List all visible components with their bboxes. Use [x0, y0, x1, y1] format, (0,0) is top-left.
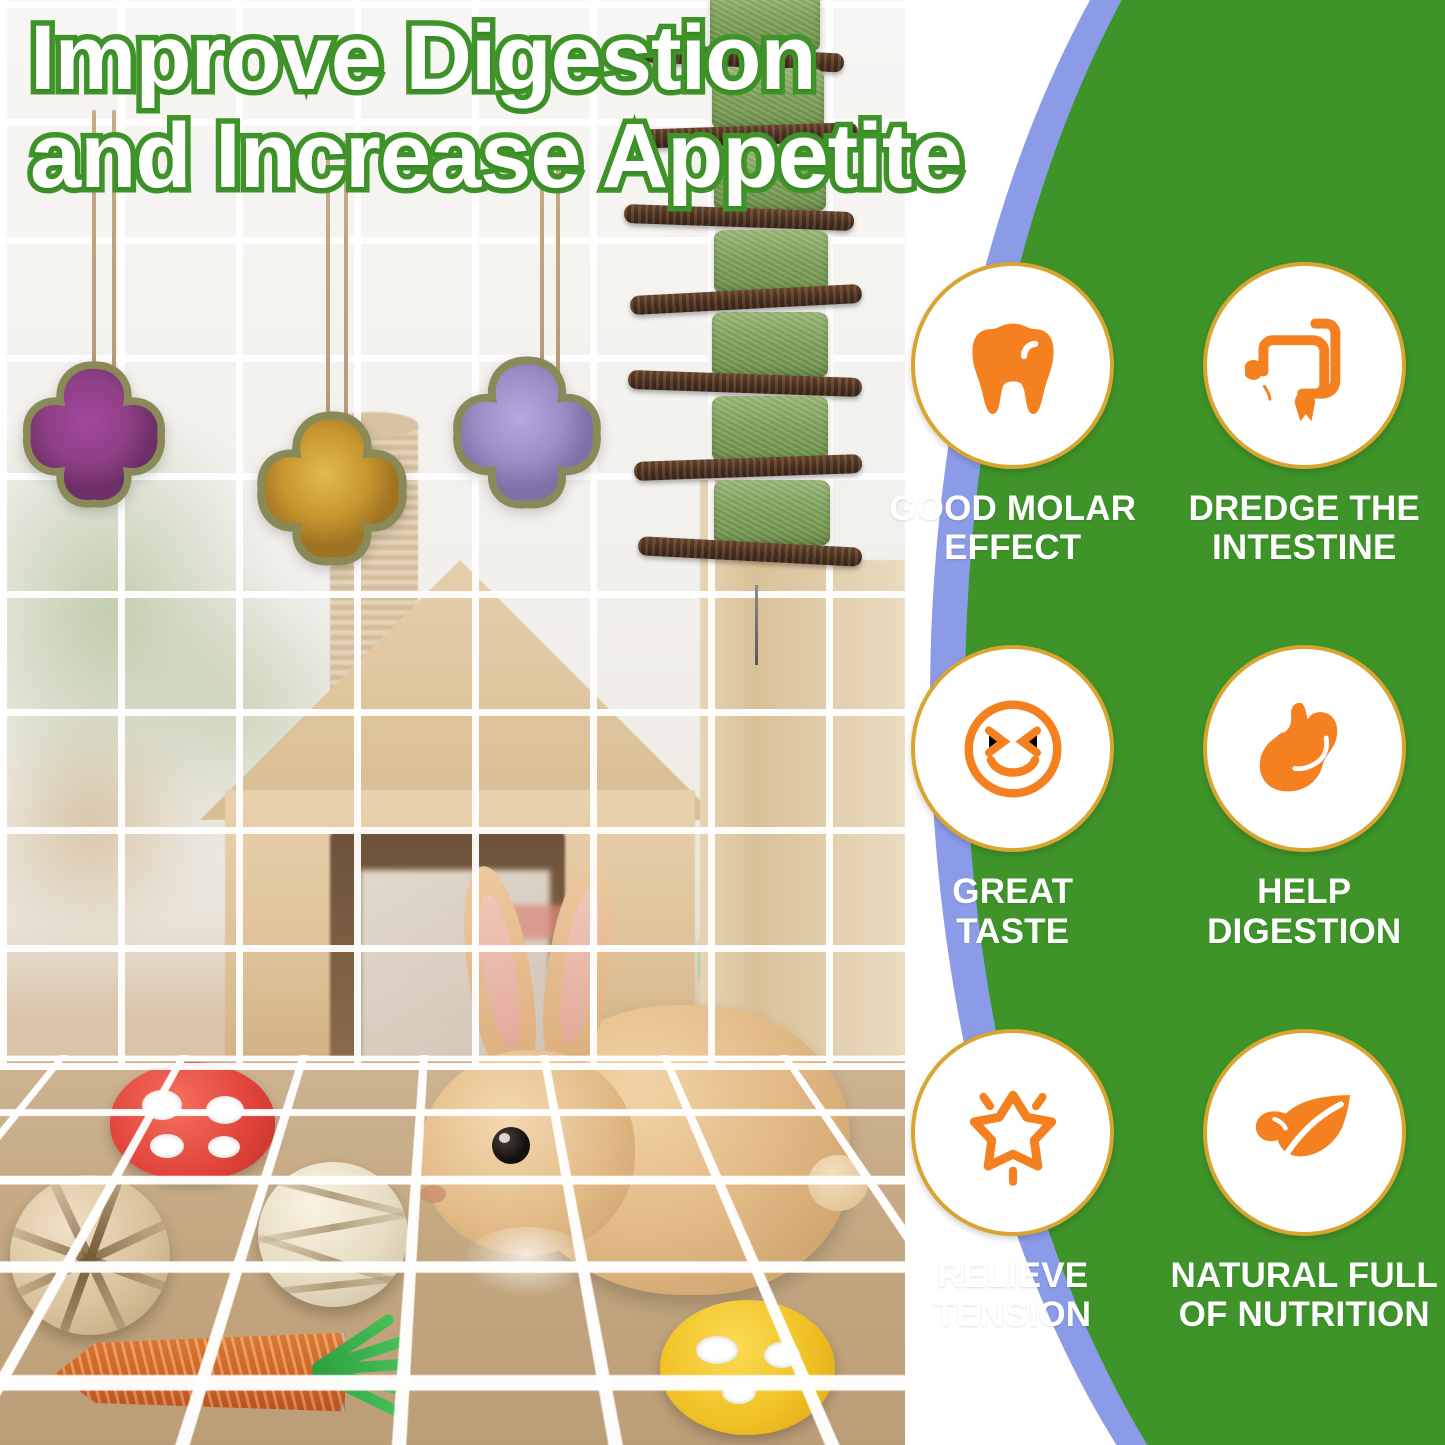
feature-label: GOOD MOLAREFFECT: [889, 489, 1136, 567]
badge-circle: [911, 262, 1114, 469]
flower-chew-purple-shape: [18, 355, 170, 515]
tooth-icon: [954, 307, 1072, 425]
feature-dredge-the-intestine[interactable]: DREDGE THEINTESTINE: [1164, 262, 1445, 645]
flower-chew-lavender-shape: [448, 350, 606, 516]
stomach-icon: [1245, 690, 1363, 808]
hay-cake-6: [712, 396, 828, 462]
feature-label: GREATTASTE: [952, 872, 1073, 950]
headline: Improve Digestion and Increase Appetite: [30, 10, 1210, 205]
product-infographic-poster: GOOD MOLAREFFECT DREDGE THEINTESTINE: [0, 0, 1445, 1445]
feature-label: RELIEVETENSION: [934, 1256, 1091, 1334]
feature-label: HELPDIGESTION: [1207, 872, 1401, 950]
feature-natural-full-of-nutrition[interactable]: NATURAL FULLOF NUTRITION: [1164, 1029, 1445, 1412]
flower-chew-marigold: [252, 405, 412, 573]
feature-good-molar-effect[interactable]: GOOD MOLAREFFECT: [872, 262, 1154, 645]
cage-wire-grid-floor: [0, 1055, 905, 1445]
leaf-icon: [1245, 1073, 1363, 1191]
feature-great-taste[interactable]: GREATTASTE: [872, 645, 1154, 1028]
intestine-icon: [1245, 307, 1363, 425]
flower-chew-marigold-shape: [252, 405, 412, 573]
smiley-face-icon: [954, 690, 1072, 808]
product-photo-scene: [0, 0, 905, 1445]
feature-relieve-tension[interactable]: RELIEVETENSION: [872, 1029, 1154, 1412]
feature-label: NATURAL FULLOF NUTRITION: [1171, 1256, 1438, 1334]
badge-circle: [1203, 645, 1406, 852]
flower-chew-lavender: [448, 350, 606, 516]
star-icon: [954, 1073, 1072, 1191]
badge-circle: [911, 1029, 1114, 1236]
badge-circle: [911, 645, 1114, 852]
headline-line-1: Improve Digestion: [30, 10, 1210, 108]
hay-cake-5: [712, 312, 828, 378]
badge-circle: [1203, 262, 1406, 469]
feature-list: GOOD MOLAREFFECT DREDGE THEINTESTINE: [872, 262, 1445, 1412]
badge-circle: [1203, 1029, 1406, 1236]
hay-cake-7: [714, 480, 830, 546]
flower-chew-purple: [18, 355, 170, 515]
skewer-hanging-wire: [755, 585, 758, 665]
feature-help-digestion[interactable]: HELPDIGESTION: [1164, 645, 1445, 1028]
headline-line-2: and Increase Appetite: [30, 108, 1210, 206]
hay-cake-4: [714, 230, 828, 294]
feature-label: DREDGE THEINTESTINE: [1189, 489, 1420, 567]
